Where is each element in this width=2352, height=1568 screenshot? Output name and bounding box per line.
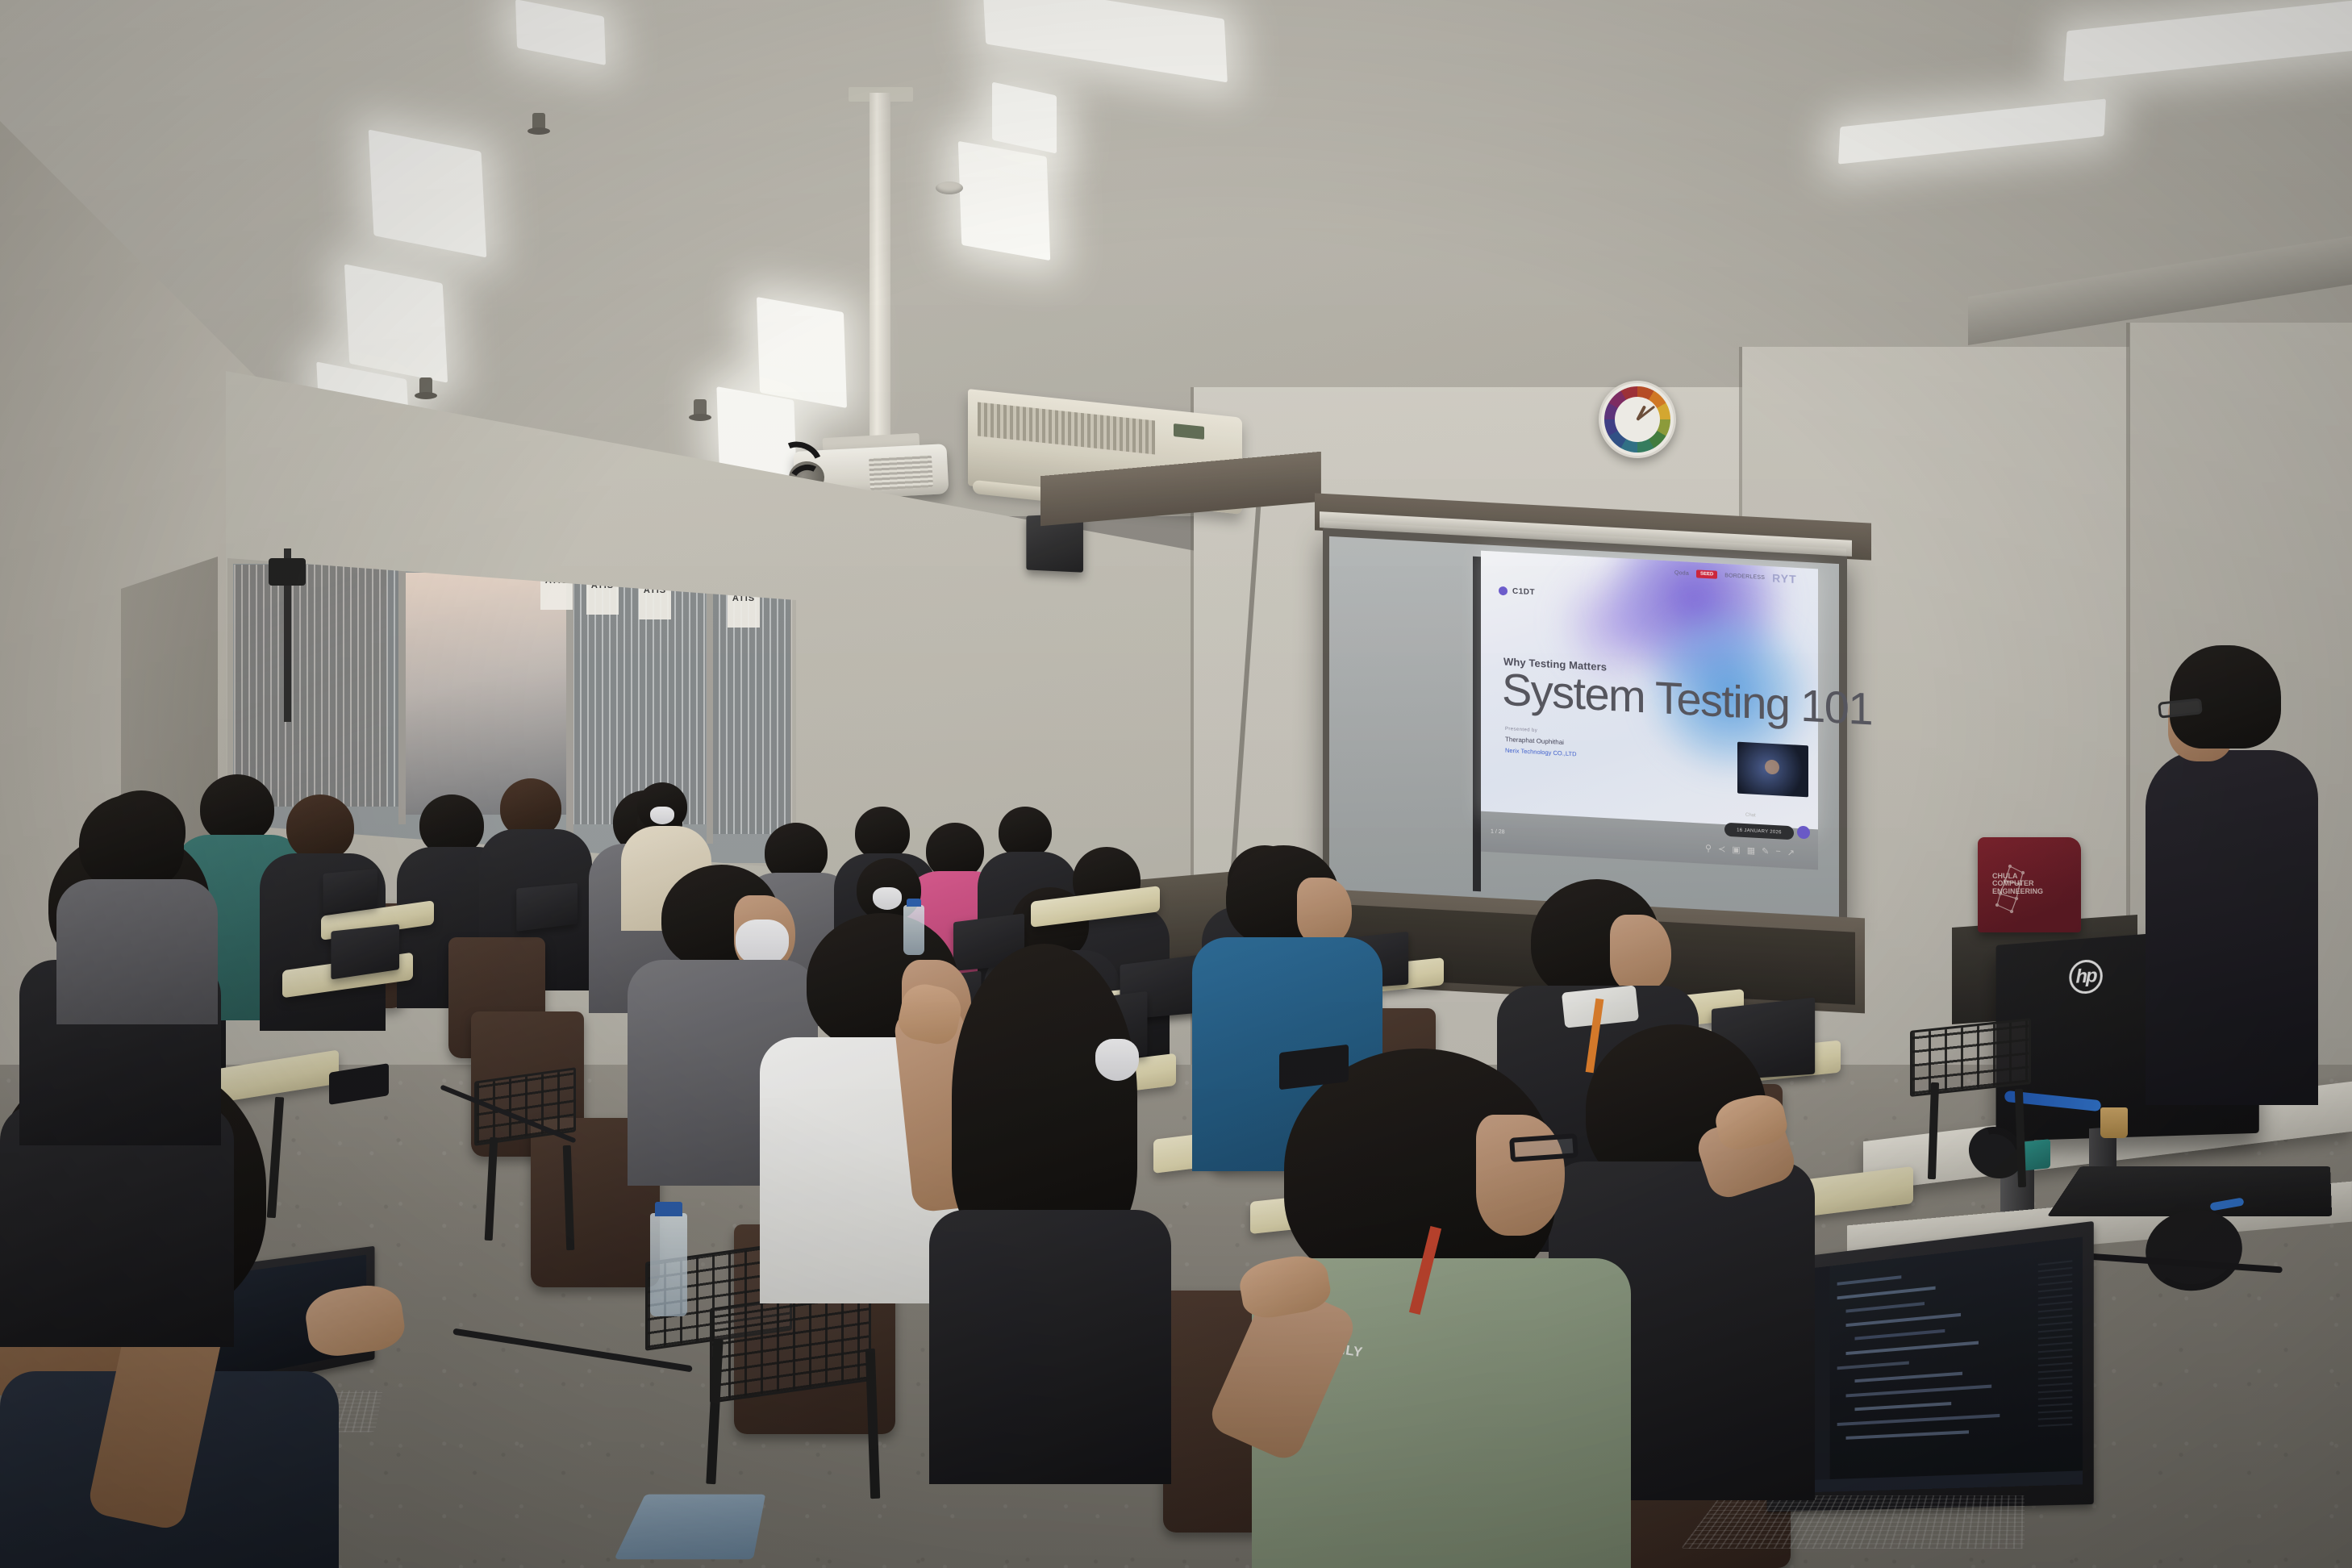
smoke-detector <box>936 181 963 194</box>
search-icon[interactable]: ⚲ <box>1705 843 1712 853</box>
face-mask <box>873 887 902 910</box>
bottle-cap <box>655 1202 682 1216</box>
ceiling-light-panel <box>757 297 847 408</box>
laptop-keyboard[interactable] <box>1681 1495 2025 1549</box>
ryt-logo: RYT <box>1772 571 1796 586</box>
chula-bag-line3: ENGINEERING <box>1992 888 2054 895</box>
editor-code-line <box>1837 1362 1909 1370</box>
ceiling-light-panel <box>992 81 1057 153</box>
student-body <box>56 879 218 1024</box>
ceiling-light-panel <box>1838 98 2106 164</box>
window-pane <box>711 592 792 834</box>
projection-letterbox <box>1473 557 1481 892</box>
editor-code-line <box>1846 1430 1969 1440</box>
face-mask <box>1095 1039 1139 1081</box>
exterior-sign: ATIS <box>639 586 671 619</box>
expand-icon[interactable]: ↗ <box>1787 848 1795 858</box>
presenter-thumbnail-head <box>1765 760 1779 775</box>
ceiling-light-panel <box>515 0 606 65</box>
standing-person-body <box>2146 750 2318 1105</box>
desk-cup <box>2100 1107 2128 1138</box>
sprinkler-head <box>532 113 545 134</box>
editor-code-line <box>1837 1414 2000 1426</box>
student-face <box>1297 878 1352 945</box>
cctv-camera-icon <box>269 558 306 586</box>
ceiling-light-panel <box>2063 0 2352 81</box>
qoda-logo: Qoda <box>1674 569 1689 576</box>
editor-code-line <box>1846 1302 1925 1312</box>
glasses-icon <box>1509 1133 1578 1162</box>
student-head <box>999 807 1052 858</box>
brand-dot-icon <box>1499 586 1508 596</box>
student-hair <box>79 794 184 891</box>
student-head <box>286 794 354 861</box>
editor-code-line <box>1855 1372 1963 1382</box>
editor-code-line <box>1846 1341 1979 1355</box>
editor-minimap <box>2038 1255 2072 1427</box>
partner-logo: BORDERLESS <box>1724 573 1765 581</box>
minus-icon[interactable]: − <box>1775 847 1780 857</box>
editor-code-line <box>1846 1313 1961 1327</box>
ceiling-light-panel <box>958 141 1050 261</box>
grid-icon[interactable]: ▣ <box>1732 844 1740 856</box>
ceiling-light-panel <box>344 264 448 382</box>
editor-code-line <box>1855 1402 1952 1411</box>
student-head <box>855 807 910 860</box>
projector-pole <box>869 93 890 464</box>
editor-code-line <box>1846 1385 1992 1398</box>
present-icon[interactable]: ▦ <box>1747 845 1755 857</box>
chula-bag-text: CHULA COMPUTER ENGINEERING <box>1992 873 2054 913</box>
share-icon[interactable]: ≺ <box>1718 844 1725 854</box>
exterior-sign: ATIS <box>728 594 760 628</box>
student-body <box>929 1210 1171 1484</box>
red-badge-logo: SEED <box>1696 569 1717 578</box>
teacher-laptop <box>2047 1166 2332 1216</box>
water-bottle[interactable] <box>903 905 924 955</box>
slide-brand-label: C1DT <box>1512 587 1535 598</box>
chair-basket <box>1910 1018 2031 1097</box>
student-face <box>1610 915 1671 992</box>
ceiling-light-panel <box>982 0 1228 82</box>
editor-code-line <box>1837 1275 1902 1286</box>
standing-person-hair <box>2170 645 2281 749</box>
window-mullion <box>566 576 573 834</box>
editor-code-line <box>1837 1287 1936 1300</box>
water-bottle[interactable] <box>650 1213 687 1316</box>
classroom-scene: ATIS ATIS ATIS ATIS C1DT Qoda SEED BORDE… <box>0 0 2352 1568</box>
slide-page-number: 1 / 28 <box>1491 829 1505 836</box>
laptop-code-editor-screen <box>1784 1236 2083 1493</box>
ceiling-light-panel <box>369 129 487 257</box>
sprinkler-head <box>694 399 707 420</box>
draw-icon[interactable]: ✎ <box>1762 846 1769 857</box>
exterior-building <box>234 565 387 807</box>
window-mullion <box>707 586 713 844</box>
sprinkler-head <box>419 377 432 398</box>
bottle-cap <box>907 899 921 907</box>
laptop[interactable] <box>516 883 578 932</box>
face-mask <box>650 807 674 824</box>
student-hair <box>952 944 1137 1250</box>
editor-code-line <box>1855 1329 1945 1341</box>
student-face <box>1476 1115 1565 1236</box>
projector-vent <box>869 455 933 490</box>
student-head <box>200 774 274 844</box>
window-mullion <box>398 566 406 824</box>
avatar[interactable] <box>1797 826 1810 840</box>
slide-chat-label: Chat <box>1745 813 1756 819</box>
laptop[interactable] <box>323 869 377 913</box>
